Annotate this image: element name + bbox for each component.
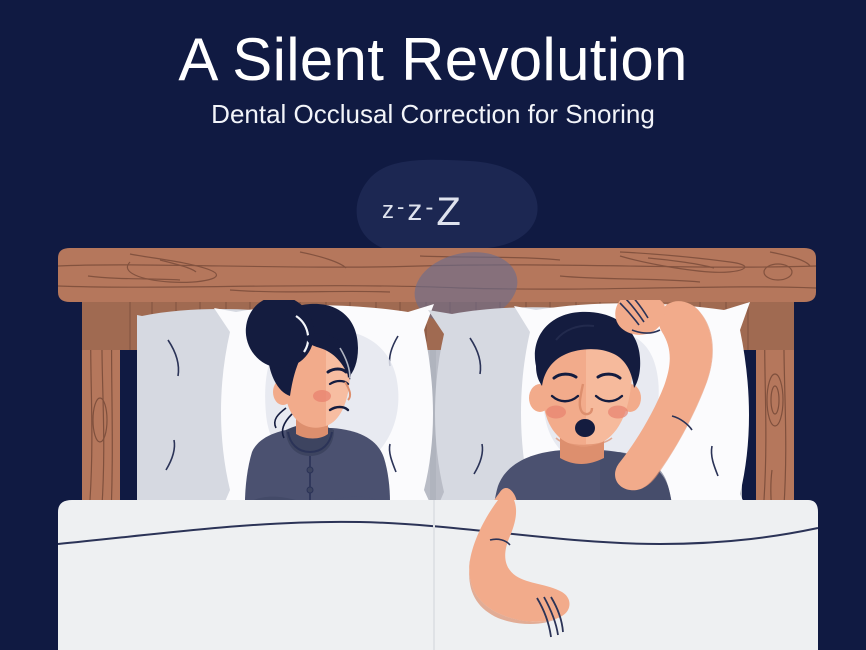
- man-open-mouth: [575, 419, 595, 437]
- poster-canvas: A Silent Revolution Dental Occlusal Corr…: [0, 0, 866, 650]
- sleep-bubble-large: [357, 160, 538, 254]
- blanket: [58, 500, 818, 650]
- bedroom-illustration: [0, 0, 866, 650]
